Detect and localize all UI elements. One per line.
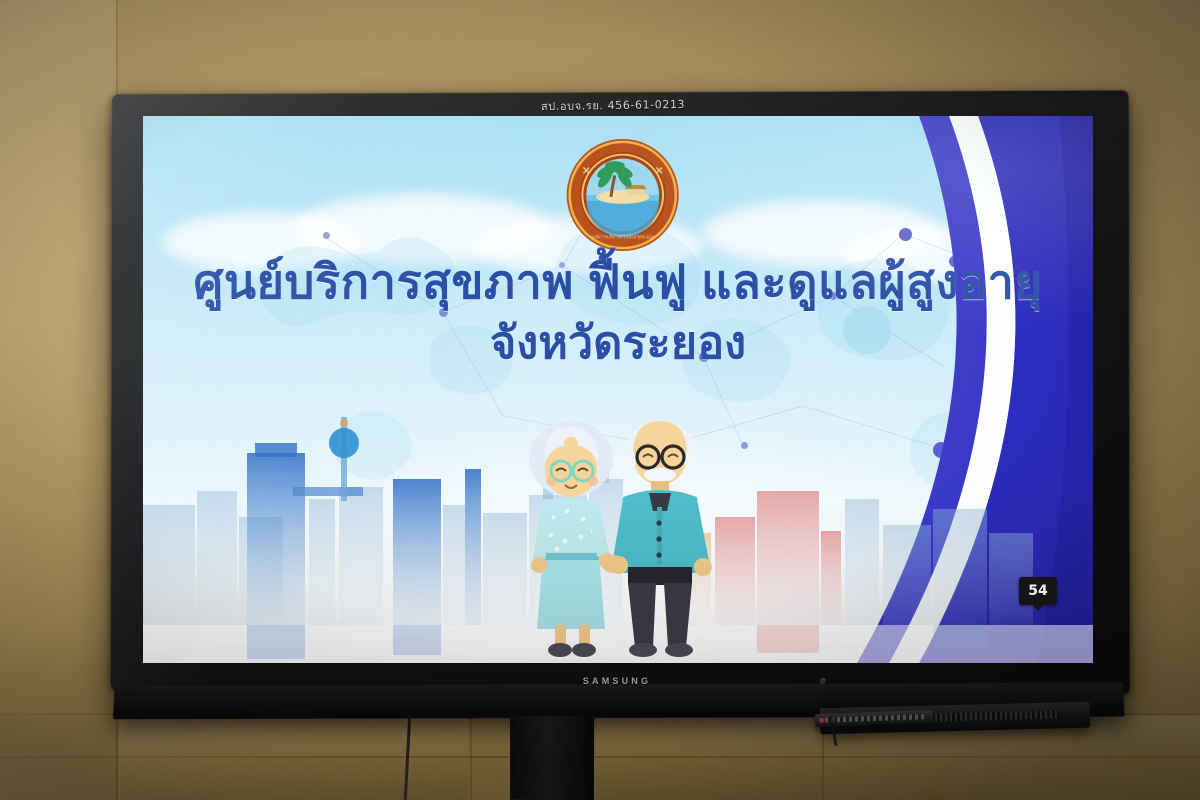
room-scene: สป.อบจ.รย. 456-61-0213	[0, 0, 1200, 800]
ir-sensor-icon	[820, 678, 826, 684]
television-display[interactable]: สป.อบจ.รย. 456-61-0213	[108, 92, 1126, 692]
power-button-icon[interactable]	[819, 718, 824, 723]
samsung-brand-logo: SAMSUNG	[108, 676, 1126, 686]
wall-panel-lower-left	[120, 716, 468, 800]
provincial-seal-emblem: องค์การบริหารส่วนจังหวัดระยอง	[564, 136, 682, 254]
slide-title-line1: ศูนย์บริการสุขภาพ ฟื้นฟู และดูแลผู้สูงอา…	[143, 256, 1093, 308]
elderly-woman-figure	[529, 421, 615, 657]
elderly-couple-illustration	[503, 407, 733, 659]
wall-panel-left	[0, 0, 118, 800]
screen-area[interactable]: องค์การบริหารส่วนจังหวัดระยอง ศูนย์บริกา…	[143, 116, 1093, 663]
display-stand-column	[510, 716, 594, 800]
slide-title-block: ศูนย์บริการสุขภาพ ฟื้นฟู และดูแลผู้สูงอา…	[143, 256, 1093, 368]
network-node	[323, 232, 330, 239]
presentation-slide: องค์การบริหารส่วนจังหวัดระยอง ศูนย์บริกา…	[143, 116, 1093, 663]
slide-number-badge[interactable]: 54	[1019, 577, 1057, 605]
wall-panel-lower-center	[596, 716, 822, 800]
slide-title-line2: จังหวัดระยอง	[143, 318, 1093, 368]
elderly-man-figure	[610, 421, 712, 657]
remote-keypad[interactable]	[825, 714, 925, 722]
svg-text:องค์การบริหารส่วนจังหวัดระยอง: องค์การบริหารส่วนจังหวัดระยอง	[591, 233, 654, 240]
asset-tag-label: สป.อบจ.รย. 456-61-0213	[463, 92, 763, 119]
